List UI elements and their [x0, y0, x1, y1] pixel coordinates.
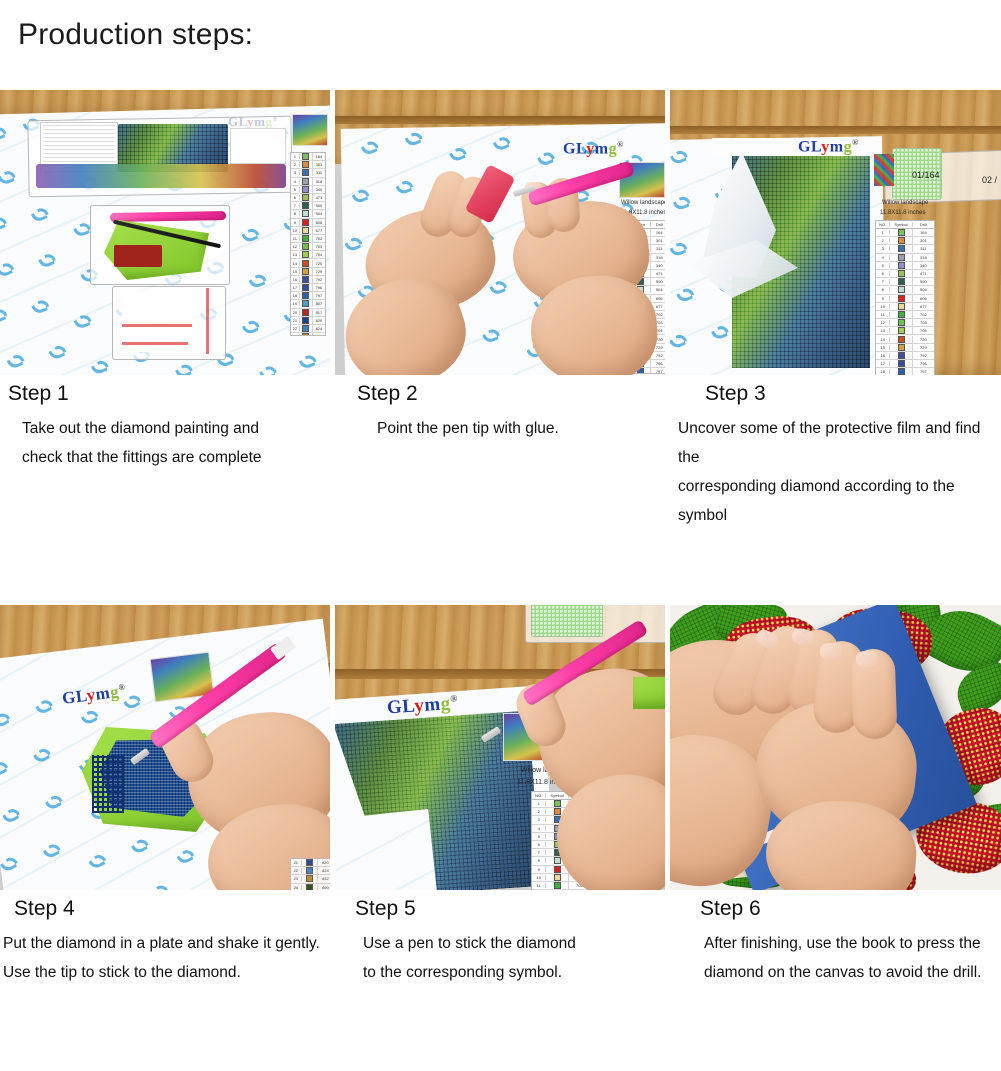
step-label-2: Step 2 [357, 382, 665, 406]
page-title: Production steps: [18, 20, 253, 50]
step-block-4: GLymg® 21820 22824 23832 [0, 605, 330, 1071]
bag-label-01: 01/164 [912, 170, 940, 180]
canvas-title: Willow landscape [882, 200, 928, 206]
steps-row-bottom: GLymg® 21820 22824 23832 [0, 605, 1001, 1071]
step-text-6: After finishing, use the book to press t… [704, 929, 1001, 987]
bag-label-02: 02 / [982, 175, 997, 185]
steps-row-top: GLymg® [0, 90, 1001, 535]
step-block-5: GLymg® Willow landscape 11.8X11.8 inches… [335, 605, 665, 1071]
step-block-6: Step 6 After finishing, use the book to … [670, 605, 1001, 1071]
step-text-4: Put the diamond in a plate and shake it … [3, 929, 330, 987]
step-photo-5: GLymg® Willow landscape 11.8X11.8 inches… [335, 605, 665, 890]
step-label-4: Step 4 [14, 897, 330, 921]
brand-logo: GLymg® [563, 140, 624, 158]
color-chart: NO.SymbolDrill 1164 2301 3311 4318 5340 … [875, 220, 935, 375]
step-text-1: Take out the diamond painting and check … [22, 414, 330, 472]
canvas-title: Willow landscape [621, 200, 665, 206]
steps-grid: GLymg® [0, 90, 1001, 1071]
step-label-6: Step 6 [700, 897, 1001, 921]
canvas-size: 11.8X11.8 inches [880, 210, 925, 216]
step-text-3: Uncover some of the protective film and … [678, 414, 1001, 530]
step-photo-3: GLymg® 01/164 02 / Willow landscape 11.8… [670, 90, 1001, 375]
brand-logo: GLymg® [798, 138, 859, 156]
step-photo-2: GLymg® Willow landscape 11.8X11.8 inches… [335, 90, 665, 375]
color-chart-strip: 1164 2301 3311 4318 5340 6471 7500 8504 … [290, 152, 326, 336]
red-sticker [114, 245, 162, 267]
step-photo-1: GLymg® [0, 90, 330, 375]
step-block-1: GLymg® [0, 90, 330, 535]
step-text-2: Point the pen tip with glue. [377, 414, 665, 443]
step-photo-6 [670, 605, 1001, 890]
step-block-3: GLymg® 01/164 02 / Willow landscape 11.8… [670, 90, 1001, 535]
step-block-2: GLymg® Willow landscape 11.8X11.8 inches… [335, 90, 665, 535]
step-label-3: Step 3 [705, 382, 1001, 406]
step-label-1: Step 1 [8, 382, 330, 406]
step-text-5: Use a pen to stick the diamond to the co… [363, 929, 665, 987]
step-label-5: Step 5 [355, 897, 665, 921]
color-chart: 21820 22824 23832 24890 [290, 858, 330, 890]
step-photo-4: GLymg® 21820 22824 23832 [0, 605, 330, 890]
